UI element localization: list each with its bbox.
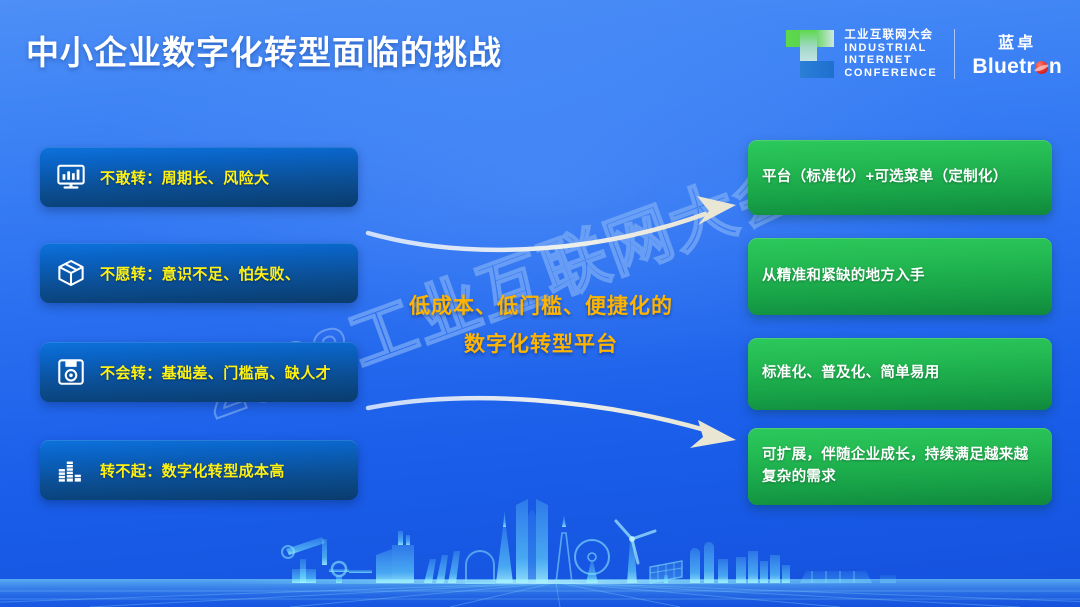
monitor-chart-icon: [56, 162, 86, 192]
company-name-en-before: Bluetr: [972, 55, 1034, 78]
company-name-en: Bluetrn: [972, 55, 1062, 79]
challenge-card-3-label: 不会转：基础差、门槛高、缺人才: [100, 362, 331, 383]
solution-card-3[interactable]: 标准化、普及化、简单易用: [748, 338, 1052, 410]
challenge-card-4-label: 转不起：数字化转型成本高: [100, 460, 285, 481]
conference-logo: 工业互联网大会 INDUSTRIAL INTERNET CONFERENCE: [784, 23, 937, 85]
curved-arrow-down-right-icon: [368, 398, 736, 448]
solution-card-4[interactable]: 可扩展，伴随企业成长，持续满足越来越复杂的需求: [748, 428, 1052, 505]
center-statement: 低成本、低门槛、便捷化的 数字化转型平台: [376, 288, 706, 364]
bar-chart-icon: [56, 455, 86, 485]
challenge-card-4[interactable]: 转不起：数字化转型成本高: [40, 440, 358, 500]
floppy-disk-icon: [56, 357, 86, 387]
conference-name-en-1: INDUSTRIAL: [844, 42, 937, 54]
red-sphere-icon: [1035, 61, 1048, 74]
company-name-en-after: n: [1049, 55, 1062, 78]
logo-lockup: 工业互联网大会 INDUSTRIAL INTERNET CONFERENCE 蓝…: [784, 20, 1062, 88]
curved-arrow-up-right-icon: [368, 196, 736, 250]
challenge-card-1[interactable]: 不敢转：周期长、风险大: [40, 147, 358, 207]
industrial-city-skyline-icon: [0, 487, 1080, 607]
challenge-card-3[interactable]: 不会转：基础差、门槛高、缺人才: [40, 342, 358, 402]
center-statement-line2: 数字化转型平台: [376, 326, 706, 364]
challenge-card-2-label: 不愿转：意识不足、怕失败、: [100, 263, 300, 284]
t-mark-logo-icon: [784, 28, 836, 80]
conference-name-en-3: CONFERENCE: [844, 67, 937, 79]
solution-card-2[interactable]: 从精准和紧缺的地方入手: [748, 238, 1052, 315]
challenge-card-2[interactable]: 不愿转：意识不足、怕失败、: [40, 243, 358, 303]
solution-card-4-label: 可扩展，伴随企业成长，持续满足越来越复杂的需求: [762, 445, 1038, 489]
solution-card-3-label: 标准化、普及化、简单易用: [762, 363, 940, 385]
solution-card-1[interactable]: 平台（标准化）+可选菜单（定制化）: [748, 140, 1052, 215]
slide-header: 中小企业数字化转型面临的挑战 工业互联网大会 INDUSTRIAL INTERN…: [0, 0, 1080, 108]
challenge-card-1-label: 不敢转：周期长、风险大: [100, 167, 269, 188]
conference-logo-text: 工业互联网大会 INDUSTRIAL INTERNET CONFERENCE: [844, 29, 937, 79]
solution-card-2-label: 从精准和紧缺的地方入手: [762, 266, 925, 288]
solution-card-1-label: 平台（标准化）+可选菜单（定制化）: [762, 167, 1008, 189]
slide-root: 2023工业互联网大会 中小企业数字化转型面临的挑战 工业互联网大会 INDUS…: [0, 0, 1080, 607]
center-statement-line1: 低成本、低门槛、便捷化的: [409, 295, 673, 318]
page-title: 中小企业数字化转型面临的挑战: [26, 26, 502, 74]
logo-divider: [954, 29, 955, 79]
company-logo: 蓝卓 Bluetrn: [972, 29, 1062, 79]
conference-name-en-2: INTERNET: [844, 54, 937, 66]
box-cube-icon: [56, 258, 86, 288]
conference-name-cn: 工业互联网大会: [844, 29, 937, 42]
company-name-cn: 蓝卓: [998, 29, 1036, 53]
